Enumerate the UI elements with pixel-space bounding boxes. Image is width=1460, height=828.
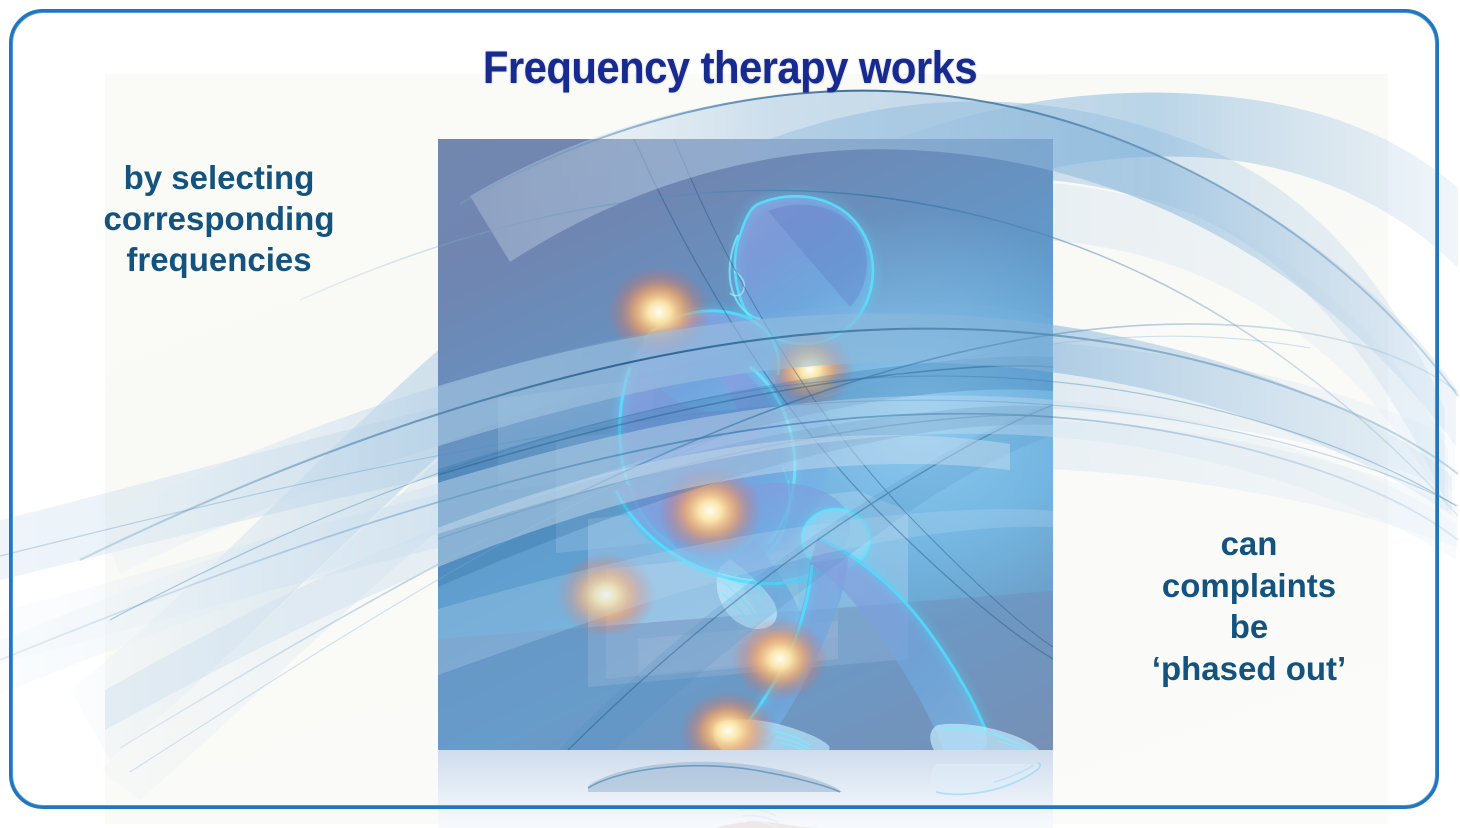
caption-left-line-2: corresponding: [34, 199, 404, 240]
caption-left: by selecting corresponding frequencies: [34, 158, 404, 281]
page-title: Frequency therapy works: [51, 42, 1409, 94]
caption-right-line-1: can: [1060, 523, 1438, 565]
caption-right-line-3: be: [1060, 606, 1438, 648]
caption-right: can complaints be ‘phased out’: [1060, 523, 1438, 689]
caption-right-line-4: ‘phased out’: [1060, 648, 1438, 690]
caption-left-line-1: by selecting: [34, 158, 404, 199]
slide-canvas: Frequency therapy works by selecting cor…: [0, 0, 1460, 828]
caption-right-line-2: complaints: [1060, 565, 1438, 607]
caption-left-line-3: frequencies: [34, 240, 404, 281]
wave-ribbons-front: [0, 0, 1460, 828]
